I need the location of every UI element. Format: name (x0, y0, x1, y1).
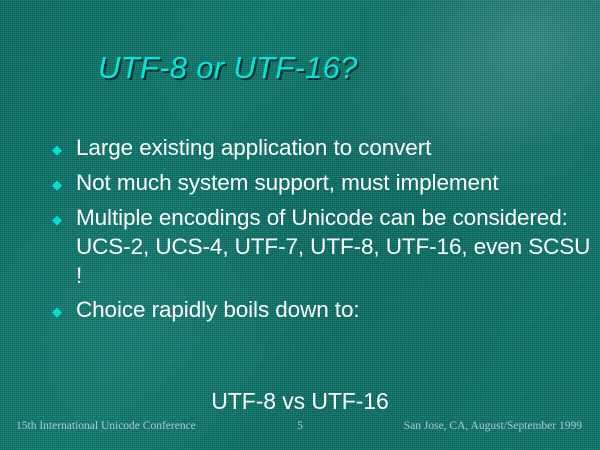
slide-title: UTF-8 or UTF-16? (98, 50, 358, 86)
list-item: ◆ Large existing application to convert (52, 133, 592, 163)
list-item: ◆ Not much system support, must implemen… (52, 168, 592, 198)
bullet-text: Large existing application to convert (76, 133, 592, 162)
bullet-text: Not much system support, must implement (76, 168, 592, 197)
list-item: ◆ Multiple encodings of Unicode can be c… (52, 203, 592, 290)
bullet-text: Multiple encodings of Unicode can be con… (76, 203, 592, 290)
diamond-bullet-icon: ◆ (52, 168, 76, 198)
footer-location-date: San Jose, CA, August/September 1999 (404, 420, 582, 432)
slide-footer: 15th International Unicode Conference 5 … (0, 420, 600, 438)
diamond-bullet-icon: ◆ (52, 133, 76, 163)
bullet-text: Choice rapidly boils down to: (76, 295, 592, 324)
presentation-slide: UTF-8 or UTF-16? ◆ Large existing applic… (0, 0, 600, 450)
bullet-list: ◆ Large existing application to convert … (52, 133, 592, 330)
slide-content: UTF-8 or UTF-16? ◆ Large existing applic… (0, 0, 600, 450)
slide-conclusion-text: UTF-8 vs UTF-16 (0, 388, 600, 415)
list-item: ◆ Choice rapidly boils down to: (52, 295, 592, 325)
diamond-bullet-icon: ◆ (52, 203, 76, 233)
diamond-bullet-icon: ◆ (52, 295, 76, 325)
